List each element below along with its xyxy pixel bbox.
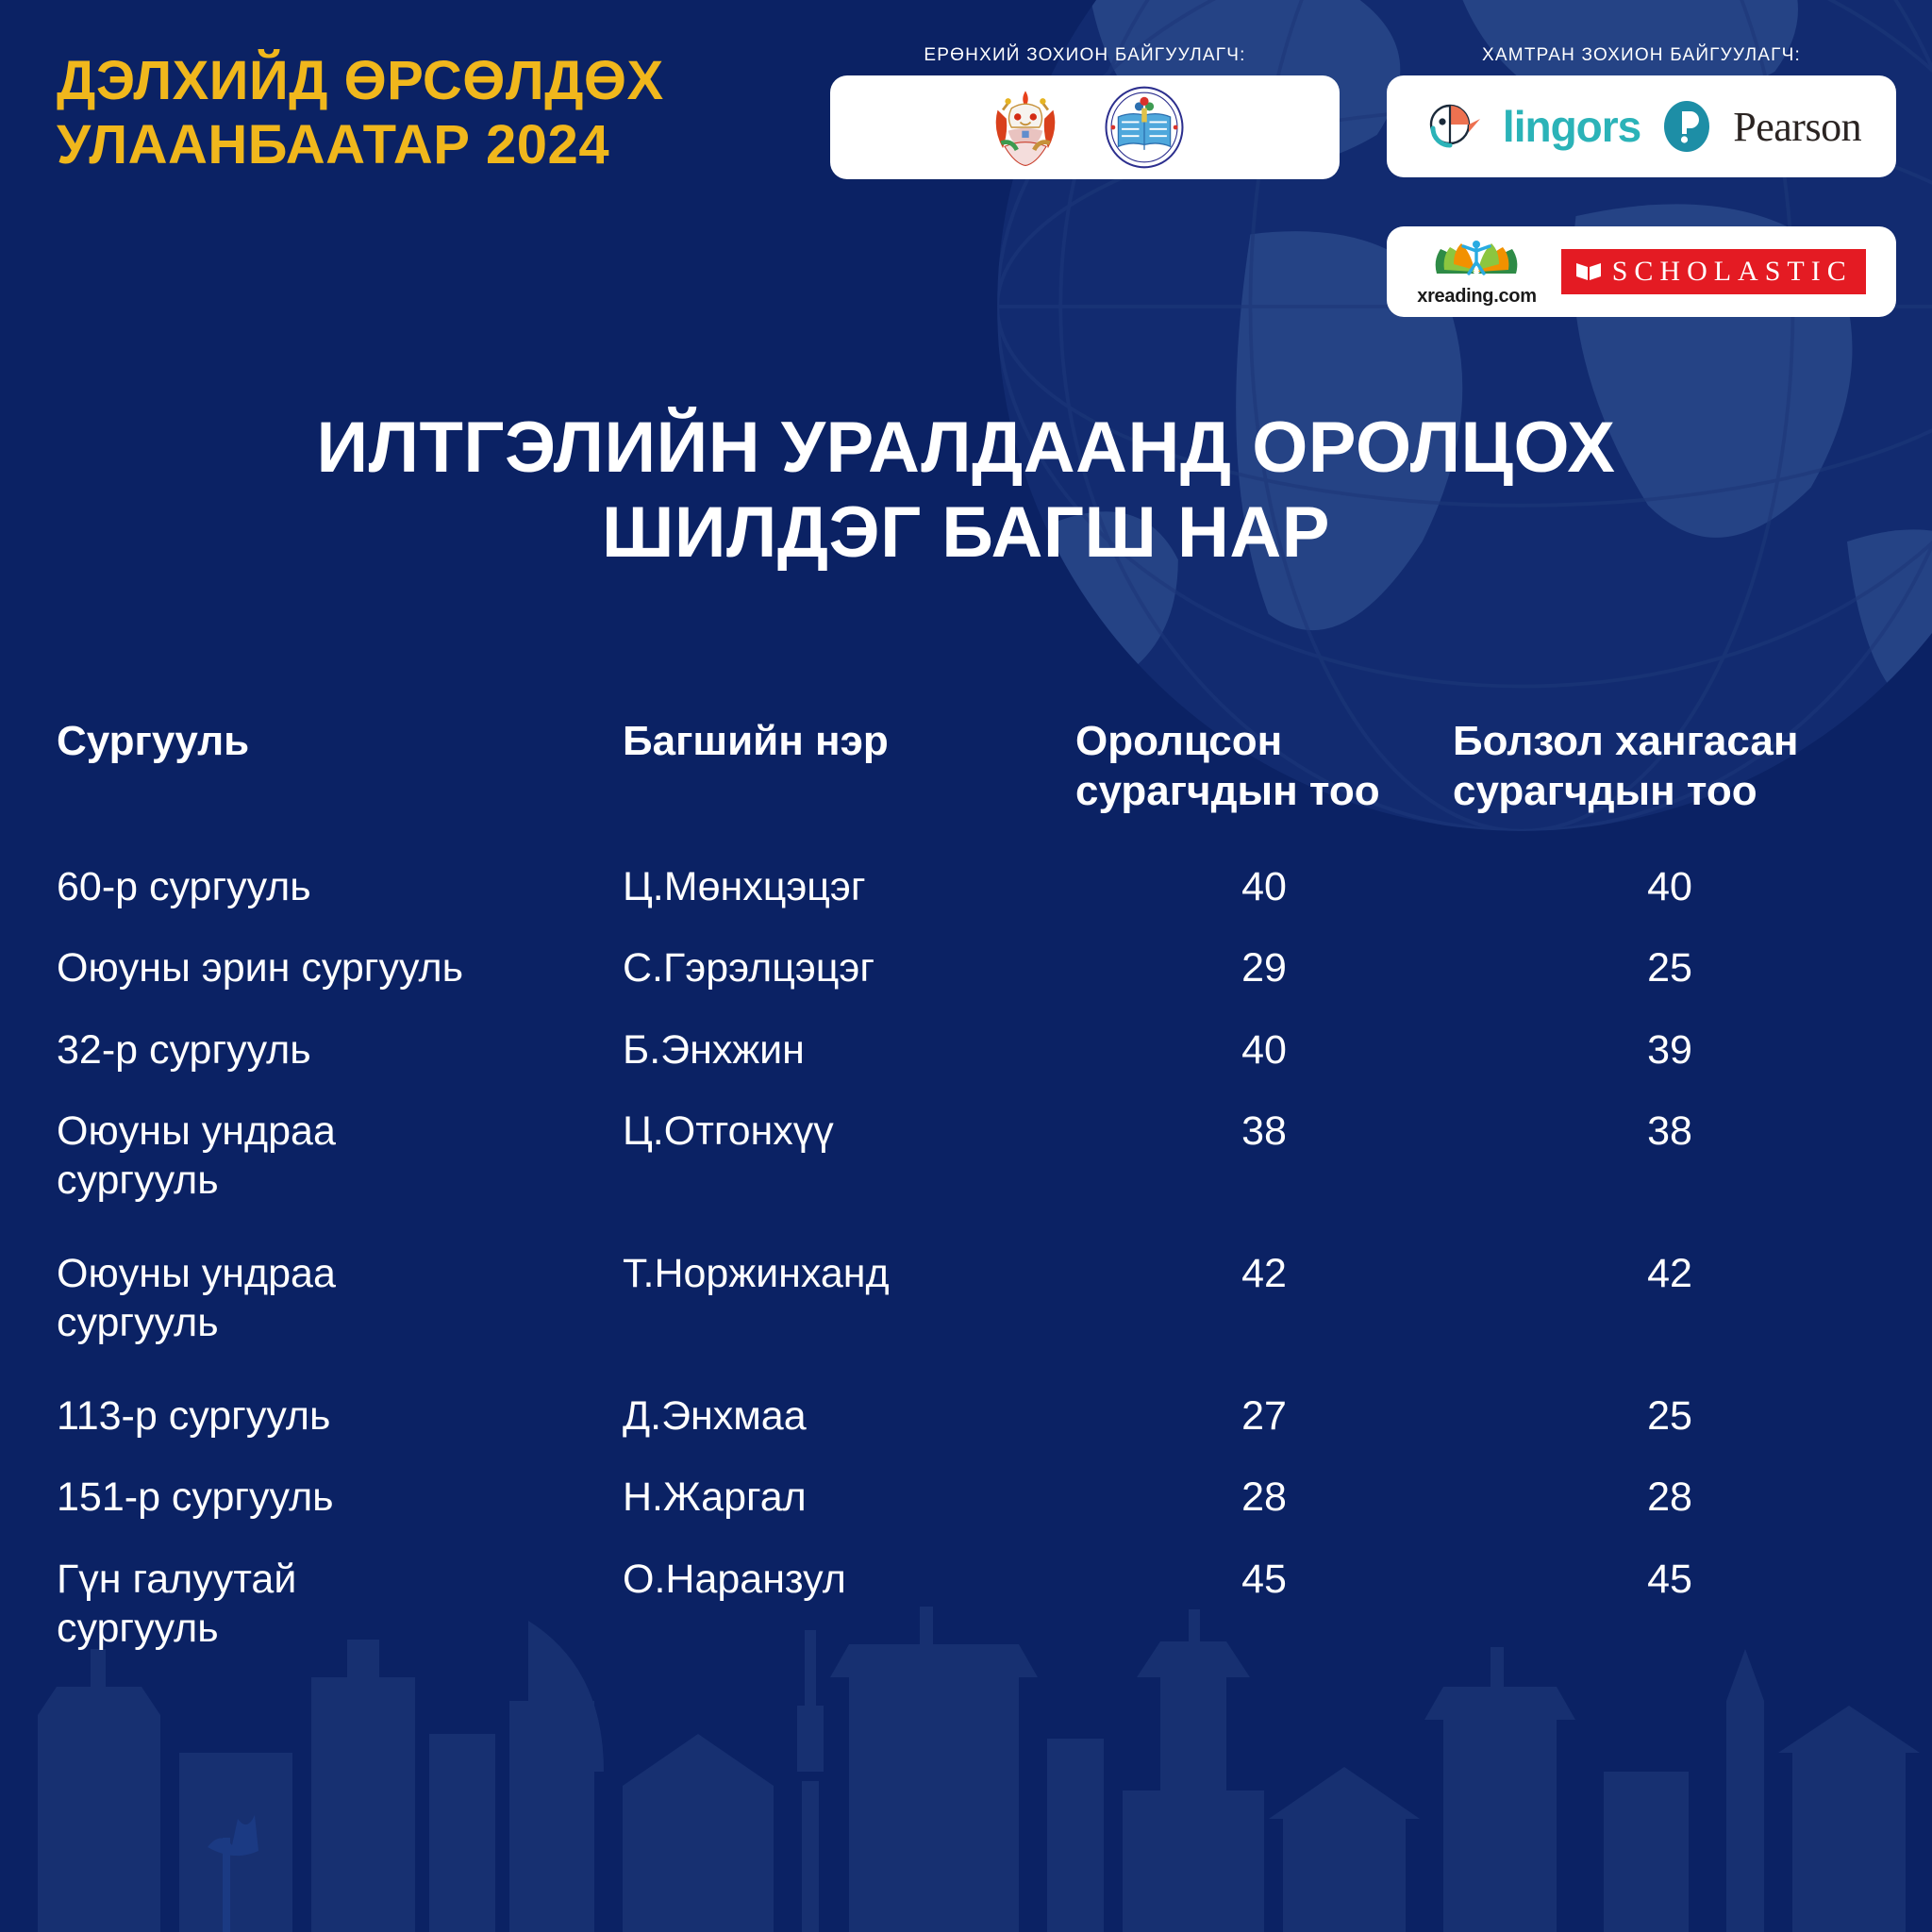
table-row: Оюуны эрин сургуульС.Гэрэлцэцэг2925 <box>0 943 1932 992</box>
table-row: Оюуны ундраасургуульТ.Норжинханд4242 <box>0 1249 1932 1348</box>
cell-qualified: 42 <box>1453 1249 1887 1298</box>
xreading-logo: xreading.com <box>1417 236 1536 308</box>
primary-organizer-logo-card <box>830 75 1340 179</box>
scholastic-wordmark: SCHOLASTIC <box>1612 256 1853 288</box>
table-body: 60-р сургуульЦ.Мөнхцэцэг4040Оюуны эрин с… <box>0 862 1932 1654</box>
cell-participated: 42 <box>1075 1249 1453 1298</box>
column-header-participated: Оролцсон сурагчдын тоо <box>1075 717 1453 817</box>
cell-qualified: 25 <box>1453 943 1887 992</box>
column-header-qualified-line1: Болзол хангасан <box>1453 718 1798 764</box>
lingors-wordmark: lingors <box>1503 101 1641 152</box>
cell-teacher: Ц.Мөнхцэцэг <box>623 862 1075 911</box>
cell-participated: 28 <box>1075 1473 1453 1522</box>
cell-qualified: 45 <box>1453 1555 1887 1604</box>
event-title-line2: УЛААНБААТАР 2024 <box>57 113 792 177</box>
cell-school: 60-р сургууль <box>57 862 623 911</box>
cell-participated: 29 <box>1075 943 1453 992</box>
mongolia-state-emblem-icon <box>982 84 1069 171</box>
scholastic-logo: SCHOLASTIC <box>1561 249 1866 294</box>
table-row: 113-р сургуульД.Энхмаа2725 <box>0 1391 1932 1441</box>
table-header-row: Сургууль Багшийн нэр Оролцсон сурагчдын … <box>0 717 1932 817</box>
cell-school: 151-р сургууль <box>57 1473 623 1522</box>
co-organizer-logo-card-row1: lingors Pearson <box>1387 75 1896 177</box>
co-organizer-block: ХАМТРАН ЗОХИОН БАЙГУУЛАГЧ: lingors Pears… <box>1387 45 1896 317</box>
teachers-table: Сургууль Багшийн нэр Оролцсон сурагчдын … <box>0 717 1932 1697</box>
cell-participated: 27 <box>1075 1391 1453 1441</box>
cell-qualified: 39 <box>1453 1025 1887 1074</box>
cell-participated: 45 <box>1075 1555 1453 1604</box>
cell-school: Гүн галуутайсургууль <box>57 1555 623 1654</box>
cell-qualified: 38 <box>1453 1107 1887 1156</box>
cell-school: Оюуны ундраасургууль <box>57 1107 623 1206</box>
column-header-qualified: Болзол хангасан сурагчдын тоо <box>1453 717 1887 817</box>
cell-teacher: Н.Жаргал <box>623 1473 1075 1522</box>
cell-qualified: 28 <box>1453 1473 1887 1522</box>
cell-school: Оюуны эрин сургууль <box>57 943 623 992</box>
page-title: ИЛТГЭЛИЙН УРАЛДААНД ОРОЛЦОХ ШИЛДЭГ БАГШ … <box>0 406 1932 575</box>
co-organizer-logo-card-row2: xreading.com SCHOLASTIC <box>1387 226 1896 317</box>
pearson-p-icon <box>1661 96 1712 157</box>
cell-teacher: Б.Энхжин <box>623 1025 1075 1074</box>
cell-teacher: Т.Норжинханд <box>623 1249 1075 1298</box>
column-header-teacher: Багшийн нэр <box>623 717 1075 767</box>
column-header-qualified-line2: сурагчдын тоо <box>1453 768 1757 814</box>
event-title: ДЭЛХИЙД ӨРСӨЛДӨХ УЛААНБААТАР 2024 <box>57 49 792 178</box>
cell-participated: 40 <box>1075 1025 1453 1074</box>
column-header-participated-line2: сурагчдын тоо <box>1075 768 1380 814</box>
cell-qualified: 40 <box>1453 862 1887 911</box>
table-row: Оюуны ундраасургуульЦ.Отгонхүү3838 <box>0 1107 1932 1206</box>
table-row: 60-р сургуульЦ.Мөнхцэцэг4040 <box>0 862 1932 911</box>
page-title-line2: ШИЛДЭГ БАГШ НАР <box>0 491 1932 575</box>
primary-organizer-caption: ЕРӨНХИЙ ЗОХИОН БАЙГУУЛАГЧ: <box>830 45 1340 66</box>
cell-qualified: 25 <box>1453 1391 1887 1441</box>
cell-school: 113-р сургууль <box>57 1391 623 1441</box>
table-row: Гүн галуутайсургуульО.Наранзул4545 <box>0 1555 1932 1654</box>
co-organizer-caption: ХАМТРАН ЗОХИОН БАЙГУУЛАГЧ: <box>1387 45 1896 66</box>
cell-participated: 38 <box>1075 1107 1453 1156</box>
lingors-bird-icon <box>1422 96 1482 157</box>
metropolitan-education-department-seal-icon <box>1101 84 1188 171</box>
event-title-line1: ДЭЛХИЙД ӨРСӨЛДӨХ <box>57 50 664 111</box>
primary-organizer-block: ЕРӨНХИЙ ЗОХИОН БАЙГУУЛАГЧ: <box>830 45 1340 179</box>
pearson-wordmark: Pearson <box>1733 103 1861 151</box>
column-header-participated-line1: Оролцсон <box>1075 718 1282 764</box>
xreading-wordmark: xreading.com <box>1417 286 1536 308</box>
cell-school: 32-р сургууль <box>57 1025 623 1074</box>
cell-teacher: С.Гэрэлцэцэг <box>623 943 1075 992</box>
cell-participated: 40 <box>1075 862 1453 911</box>
table-row: 32-р сургуульБ.Энхжин4039 <box>0 1025 1932 1074</box>
header: ДЭЛХИЙД ӨРСӨЛДӨХ УЛААНБААТАР 2024 ЕРӨНХИ… <box>0 0 1932 377</box>
cell-teacher: О.Наранзул <box>623 1555 1075 1604</box>
column-header-school: Сургууль <box>57 717 623 767</box>
cell-teacher: Д.Энхмаа <box>623 1391 1075 1441</box>
scholastic-book-icon <box>1574 260 1603 283</box>
xreading-book-icon <box>1431 236 1522 281</box>
page-title-line1: ИЛТГЭЛИЙН УРАЛДААНД ОРОЛЦОХ <box>0 406 1932 491</box>
cell-teacher: Ц.Отгонхүү <box>623 1107 1075 1156</box>
table-row: 151-р сургуульН.Жаргал2828 <box>0 1473 1932 1522</box>
cell-school: Оюуны ундраасургууль <box>57 1249 623 1348</box>
